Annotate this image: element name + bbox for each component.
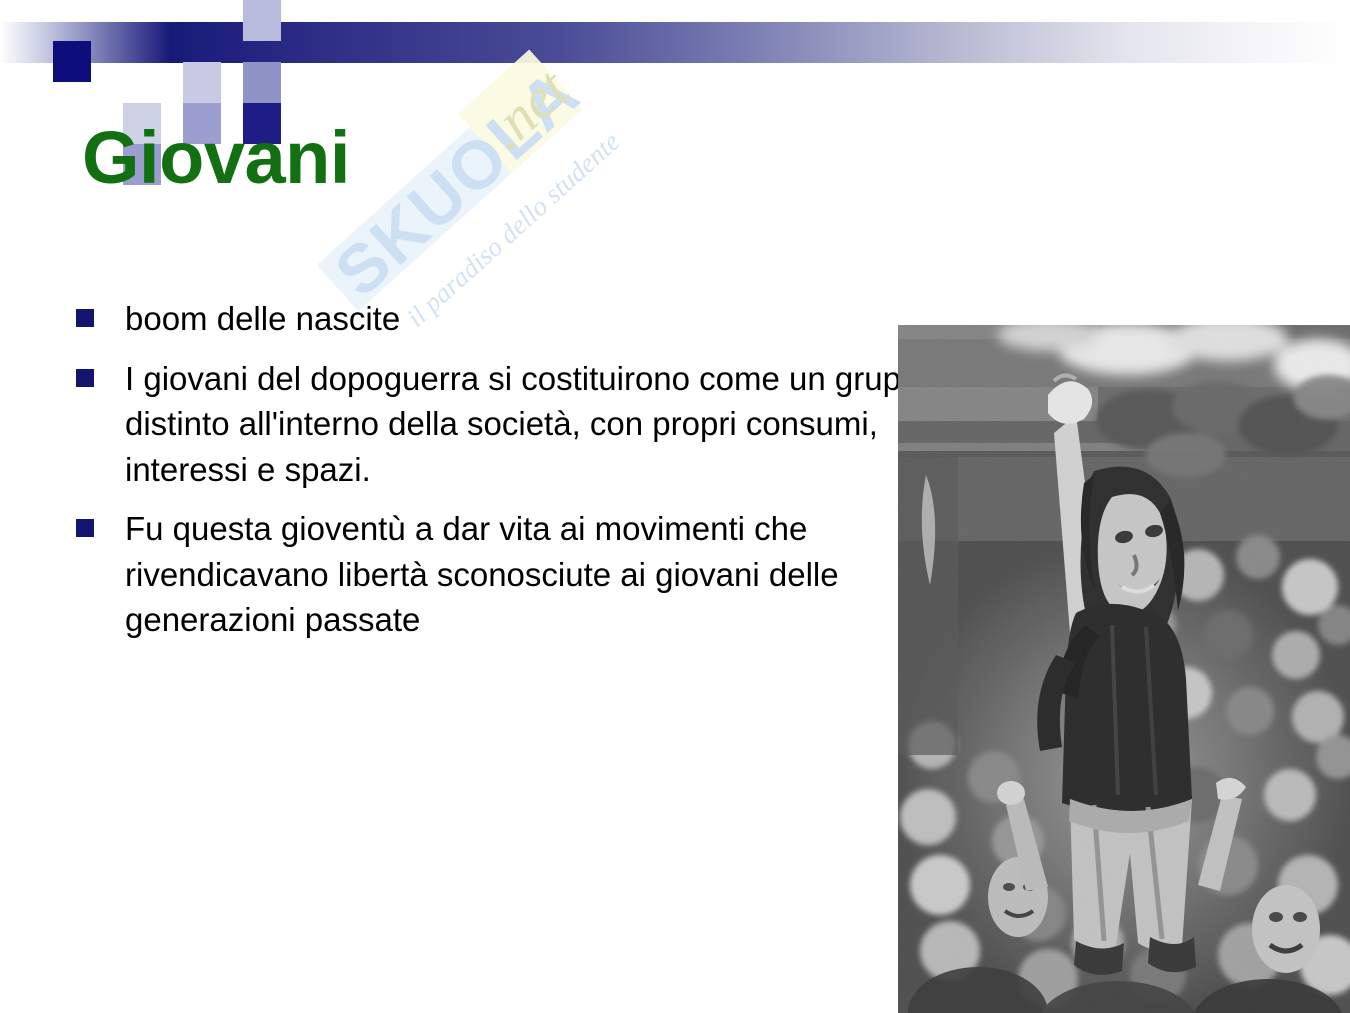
- bullet-square-icon: [76, 369, 94, 387]
- bullet-square-icon: [76, 309, 94, 327]
- bullet-list: boom delle nascite I giovani del dopogue…: [76, 296, 956, 657]
- square-periwinkle-mid: [243, 62, 281, 103]
- list-item: boom delle nascite: [76, 296, 956, 342]
- square-navy-large: [53, 41, 91, 82]
- header-gradient-bar: [0, 22, 1350, 63]
- square-lavender-top: [243, 0, 281, 41]
- watermark-domain: .net: [473, 55, 581, 162]
- bullet-text: boom delle nascite: [125, 296, 956, 342]
- list-item: Fu questa gioventù a dar vita ai movimen…: [76, 506, 956, 643]
- list-item: I giovani del dopoguerra si costituirono…: [76, 356, 956, 493]
- bullet-text: Fu questa gioventù a dar vita ai movimen…: [125, 506, 956, 643]
- bullet-text: I giovani del dopoguerra si costituirono…: [125, 356, 956, 493]
- skuola-watermark: SKUOLA .net il paradiso dello studente: [318, 38, 648, 338]
- presentation-slide: SKUOLA .net il paradiso dello studente G…: [0, 0, 1350, 1013]
- page-title: Giovani: [82, 121, 350, 195]
- header-decoration: [0, 0, 1350, 105]
- watermark-brand: SKUOLA: [321, 54, 594, 311]
- bullet-square-icon: [76, 519, 94, 537]
- square-lavender-mid-left: [183, 62, 221, 103]
- protest-photograph-graphic: [898, 325, 1350, 1013]
- protest-photograph: [898, 325, 1350, 1013]
